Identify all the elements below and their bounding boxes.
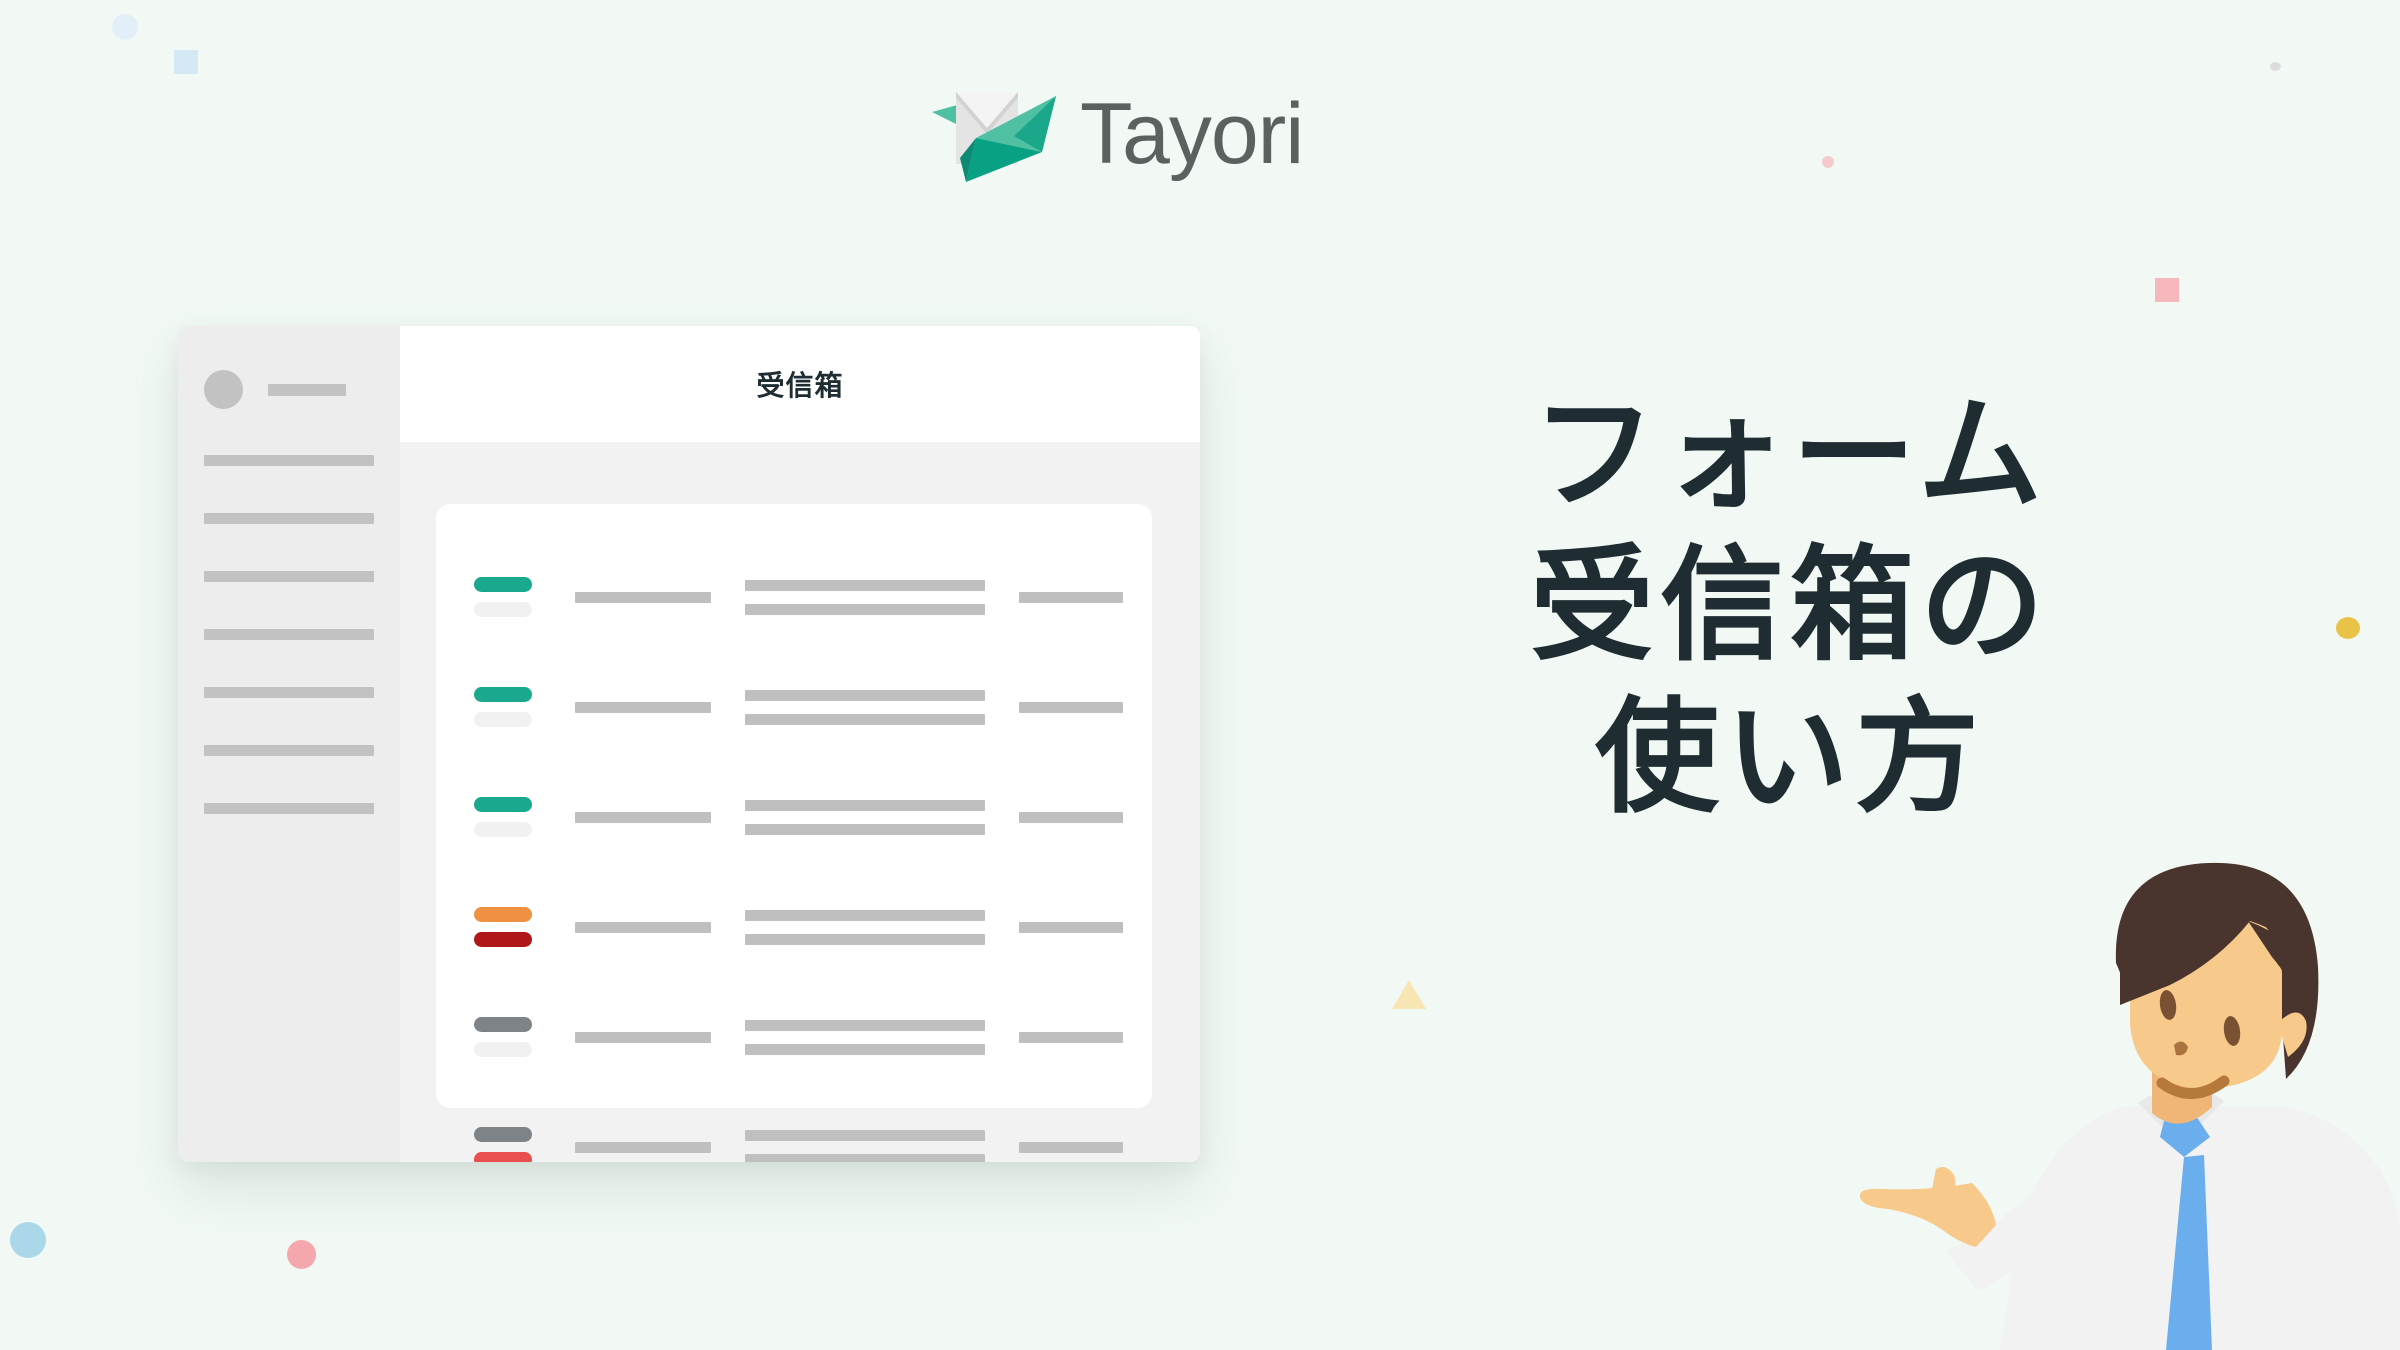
table-row[interactable] (436, 676, 1152, 738)
sidebar-user-block (178, 370, 400, 409)
businessman-presenting-illustration (1840, 845, 2400, 1350)
row-cell-end (1019, 812, 1123, 823)
row-cell-short (575, 812, 711, 823)
brand-name: Tayori (1080, 91, 1303, 177)
table-row[interactable] (436, 1006, 1152, 1068)
row-tags (474, 907, 569, 947)
table-row[interactable] (436, 1116, 1152, 1162)
row-cell-long (745, 910, 985, 945)
row-tags (474, 1017, 569, 1057)
tag-pill-top (474, 577, 532, 592)
row-tags (474, 1127, 569, 1162)
sidebar-item-placeholder[interactable] (204, 745, 374, 756)
headline: フォーム 受信箱の 使い方 (1440, 380, 2140, 834)
mockup-topbar: 受信箱 (400, 326, 1200, 442)
sidebar-item-placeholder[interactable] (204, 455, 374, 466)
circle-blue-decoration (10, 1222, 46, 1258)
inbox-list-card (436, 504, 1152, 1108)
tag-pill-top (474, 1017, 532, 1032)
row-cell-short (575, 922, 711, 933)
tag-pill-bottom (474, 712, 532, 727)
row-cell-long (745, 580, 985, 615)
row-cell-end (1019, 592, 1123, 603)
row-tags (474, 687, 569, 727)
triangle-yellow-decoration (1392, 980, 1426, 1009)
poster-canvas: Tayori 受信箱 (0, 0, 2400, 1350)
row-cell-long (745, 800, 985, 835)
tag-pill-top (474, 907, 532, 922)
square-pink-decoration (2155, 278, 2179, 302)
page-title: 受信箱 (756, 364, 843, 404)
row-cell-short (575, 1032, 711, 1043)
row-tags (474, 577, 569, 617)
row-cell-long (745, 690, 985, 725)
circle-yellow-decoration (2336, 617, 2360, 639)
mockup-main: 受信箱 (400, 326, 1200, 1162)
tag-pill-top (474, 797, 532, 812)
tag-pill-bottom (474, 932, 532, 947)
sidebar-item-placeholder[interactable] (204, 687, 374, 698)
sidebar-item-placeholder[interactable] (204, 513, 374, 524)
dot-gray-decoration (2270, 62, 2281, 71)
row-cell-short (575, 592, 711, 603)
table-row[interactable] (436, 786, 1152, 848)
envelope-paperplane-icon (930, 78, 1058, 190)
row-cell-short (575, 1142, 711, 1153)
headline-line-1: フォーム (1440, 380, 2140, 531)
tag-pill-bottom (474, 1042, 532, 1057)
row-cell-end (1019, 702, 1123, 713)
tag-pill-top (474, 1127, 532, 1142)
headline-line-2: 受信箱の (1440, 531, 2140, 682)
app-window-mockup: 受信箱 (178, 326, 1200, 1162)
sidebar-nav (178, 455, 400, 814)
headline-line-3: 使い方 (1440, 683, 2140, 834)
sidebar-item-placeholder[interactable] (204, 629, 374, 640)
tag-pill-bottom (474, 822, 532, 837)
sidebar-item-placeholder[interactable] (204, 571, 374, 582)
table-row[interactable] (436, 896, 1152, 958)
tag-pill-bottom (474, 1152, 532, 1162)
table-row[interactable] (436, 566, 1152, 628)
dot-pink-decoration (1822, 156, 1834, 168)
tag-pill-top (474, 687, 532, 702)
row-cell-end (1019, 922, 1123, 933)
row-cell-long (745, 1020, 985, 1055)
circle-pink-decoration (287, 1240, 316, 1269)
sidebar-username-placeholder (268, 384, 346, 396)
row-cell-short (575, 702, 711, 713)
mockup-sidebar (178, 326, 400, 1162)
square-light-blue-decoration (174, 50, 198, 74)
sidebar-item-placeholder[interactable] (204, 803, 374, 814)
user-avatar-icon (204, 370, 243, 409)
brand-logo: Tayori (930, 78, 1303, 190)
row-cell-end (1019, 1032, 1123, 1043)
row-cell-long (745, 1130, 985, 1163)
row-cell-end (1019, 1142, 1123, 1153)
row-tags (474, 797, 569, 837)
mockup-content (400, 442, 1200, 1162)
tag-pill-bottom (474, 602, 532, 617)
circle-light-blue-decoration (112, 14, 138, 40)
